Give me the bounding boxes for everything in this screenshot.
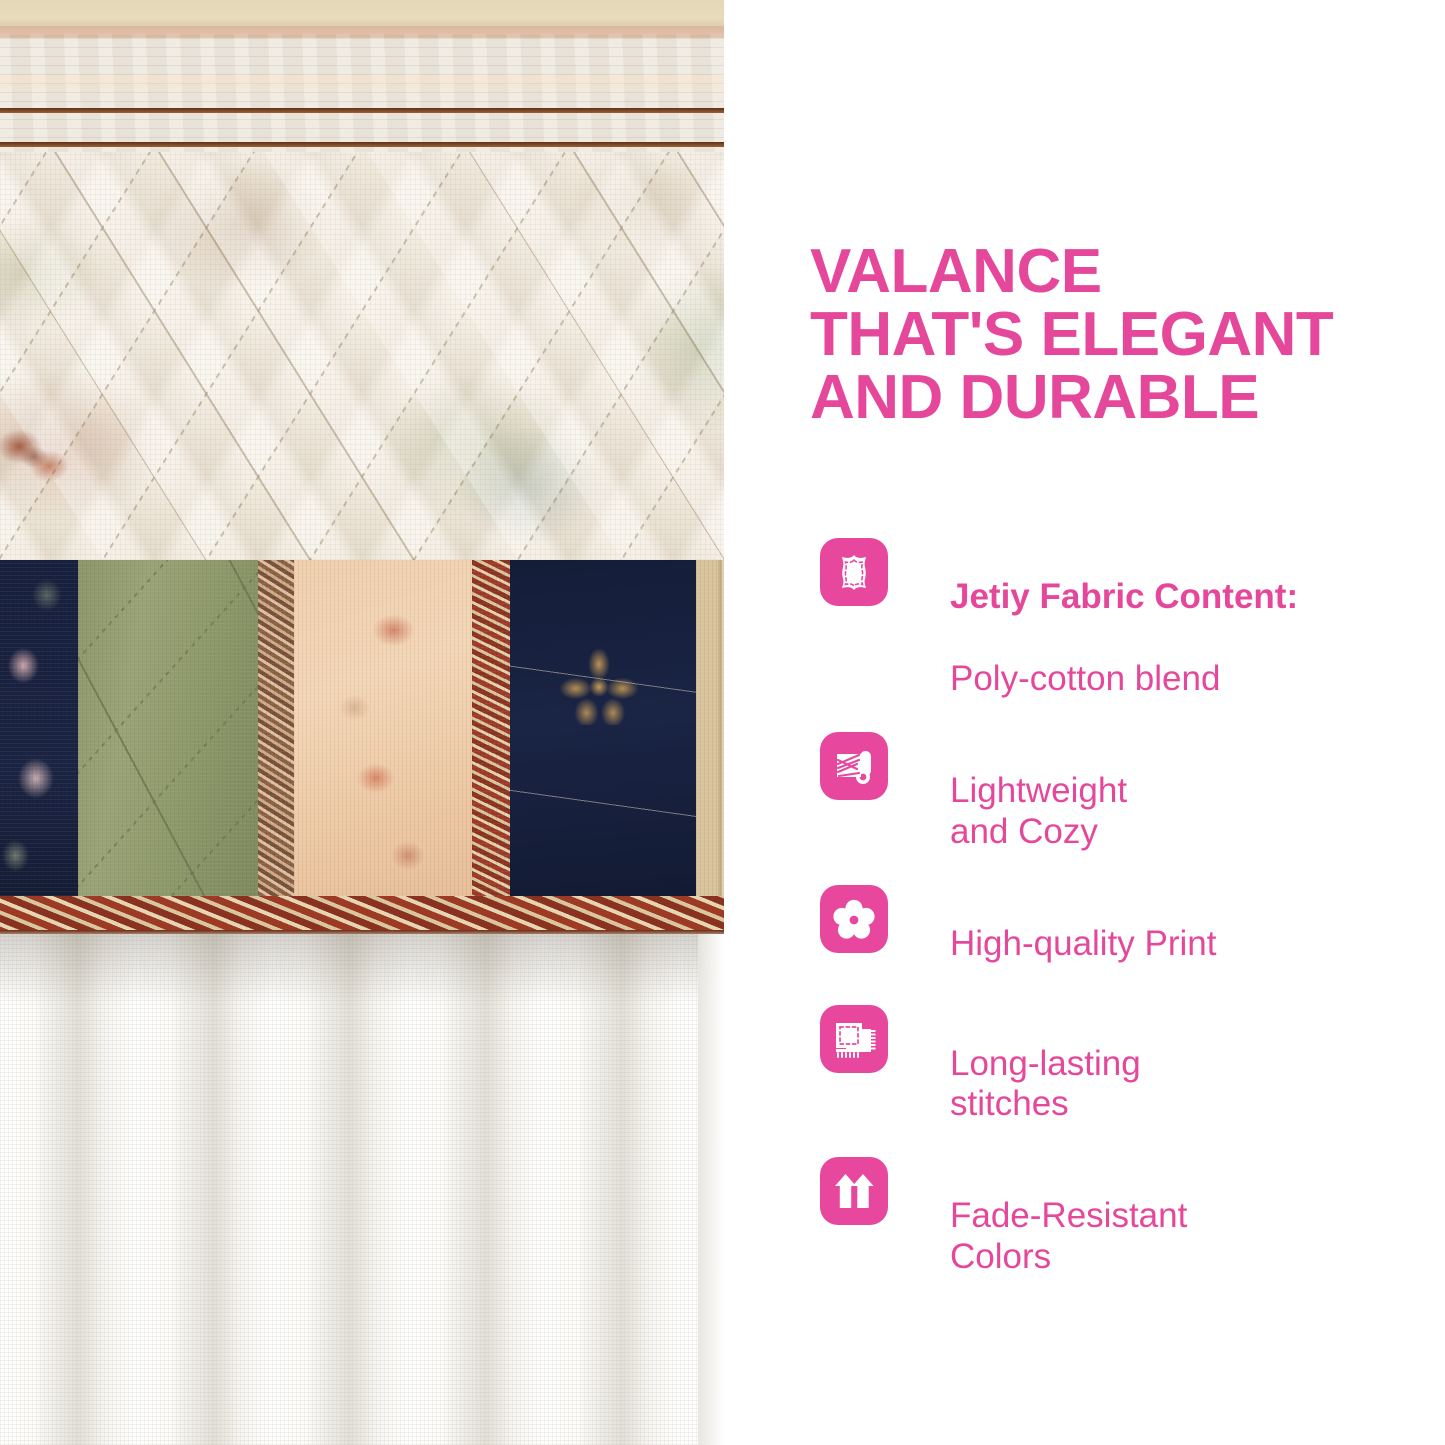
feature-item-lightweight: Lightweight and Cozy bbox=[820, 728, 1440, 853]
content-panel: VALANCE THAT'S ELEGANT AND DURABLE Jetiy… bbox=[724, 0, 1445, 1445]
wooden-cornice-board bbox=[0, 34, 724, 152]
diamond-quilt-stitching bbox=[0, 152, 724, 560]
patch-strip-peach-floral bbox=[294, 560, 472, 912]
feature-label: Jetiy Fabric Content: Poly-cotton blend bbox=[950, 534, 1298, 700]
page-title: VALANCE THAT'S ELEGANT AND DURABLE bbox=[810, 240, 1410, 430]
feature-label: Long-lasting stitches bbox=[950, 1001, 1141, 1126]
feature-item-fabric-content: Jetiy Fabric Content: Poly-cotton blend bbox=[820, 534, 1440, 700]
feature-label: Lightweight and Cozy bbox=[950, 728, 1127, 853]
feature-item-print-quality: High-quality Print bbox=[820, 881, 1440, 973]
feature-label-rest: Poly-cotton blend bbox=[950, 659, 1220, 698]
feature-label-rest: Long-lasting stitches bbox=[950, 1044, 1141, 1124]
quilted-cream-panel bbox=[0, 152, 724, 560]
feature-label-rest: Lightweight and Cozy bbox=[950, 771, 1127, 851]
patch-strip-navy-floral bbox=[0, 560, 78, 912]
product-photo bbox=[0, 0, 724, 1445]
rust-binding-strip bbox=[0, 896, 724, 934]
leather-hide-swatch-icon bbox=[820, 538, 888, 606]
feature-label-rest: Fade-Resistant Colors bbox=[950, 1196, 1187, 1276]
curtain-right-edge bbox=[698, 934, 724, 1445]
curtain-weave-texture bbox=[0, 934, 724, 1445]
sheer-white-curtain bbox=[0, 934, 724, 1445]
flower-icon bbox=[820, 885, 888, 953]
double-up-arrows-icon bbox=[820, 1157, 888, 1225]
feature-item-stitches: Long-lasting stitches bbox=[820, 1001, 1440, 1126]
patchwork-band bbox=[0, 560, 724, 912]
patch-strip-sage-green bbox=[78, 560, 258, 912]
stacked-fabric-stitches-icon bbox=[820, 1005, 888, 1073]
patch-strip-navy-gold-leaf bbox=[510, 560, 696, 912]
patch-strip-tan-plaid bbox=[696, 560, 724, 912]
feature-item-fade-resistant: Fade-Resistant Colors bbox=[820, 1153, 1440, 1278]
patch-strip-rust-floral bbox=[472, 560, 510, 912]
feature-label-bold: Jetiy Fabric Content: bbox=[950, 577, 1298, 618]
feature-label: Fade-Resistant Colors bbox=[950, 1153, 1187, 1278]
product-feature-graphic: VALANCE THAT'S ELEGANT AND DURABLE Jetiy… bbox=[0, 0, 1445, 1445]
butterfly-motif bbox=[0, 420, 82, 494]
curtain-top-shadow bbox=[0, 934, 724, 1004]
feature-list: Jetiy Fabric Content: Poly-cotton blend bbox=[820, 534, 1440, 1278]
wood-highlight bbox=[0, 76, 724, 98]
feature-label: High-quality Print bbox=[950, 881, 1217, 965]
wood-lip-lower bbox=[0, 142, 724, 147]
patch-strip-speckled bbox=[258, 560, 294, 912]
fabric-roll-icon bbox=[820, 732, 888, 800]
wood-lip-upper bbox=[0, 108, 724, 113]
feature-label-rest: High-quality Print bbox=[950, 924, 1217, 963]
